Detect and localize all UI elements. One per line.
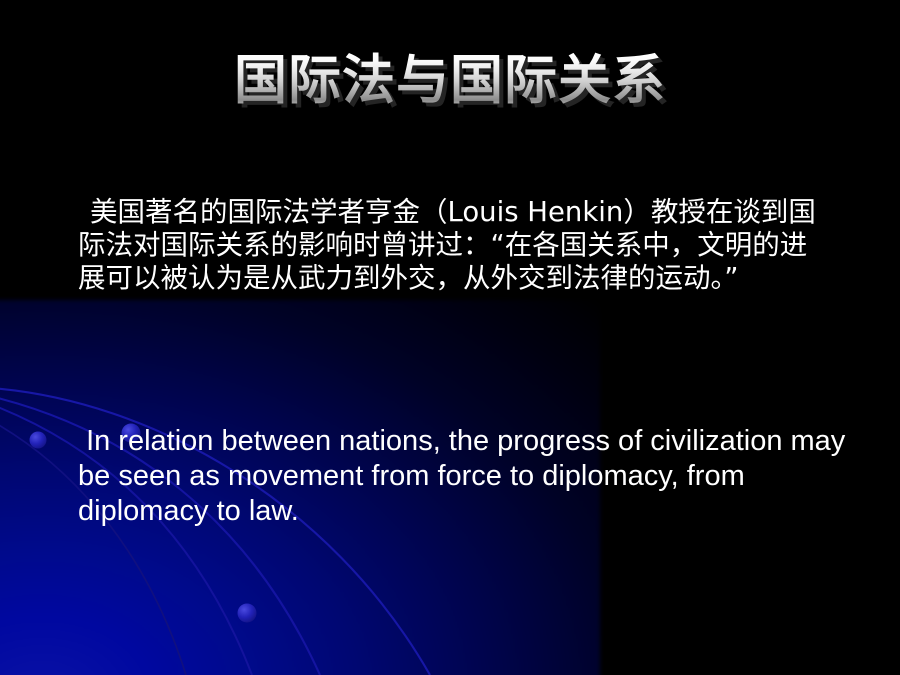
chinese-body-text: 美国著名的国际法学者亨金（Louis Henkin）教授在谈到国际法对国际关系的… — [78, 196, 830, 295]
orbit-dot-1 — [30, 432, 47, 449]
presentation-slide: 国际法与国际关系 美国著名的国际法学者亨金（Louis Henkin）教授在谈到… — [0, 0, 900, 675]
english-body-text: In relation between nations, the progres… — [78, 424, 848, 529]
orbit-dot-3 — [238, 604, 257, 623]
slide-title: 国际法与国际关系 — [234, 52, 666, 109]
slide-title-container: 国际法与国际关系 — [0, 52, 900, 109]
